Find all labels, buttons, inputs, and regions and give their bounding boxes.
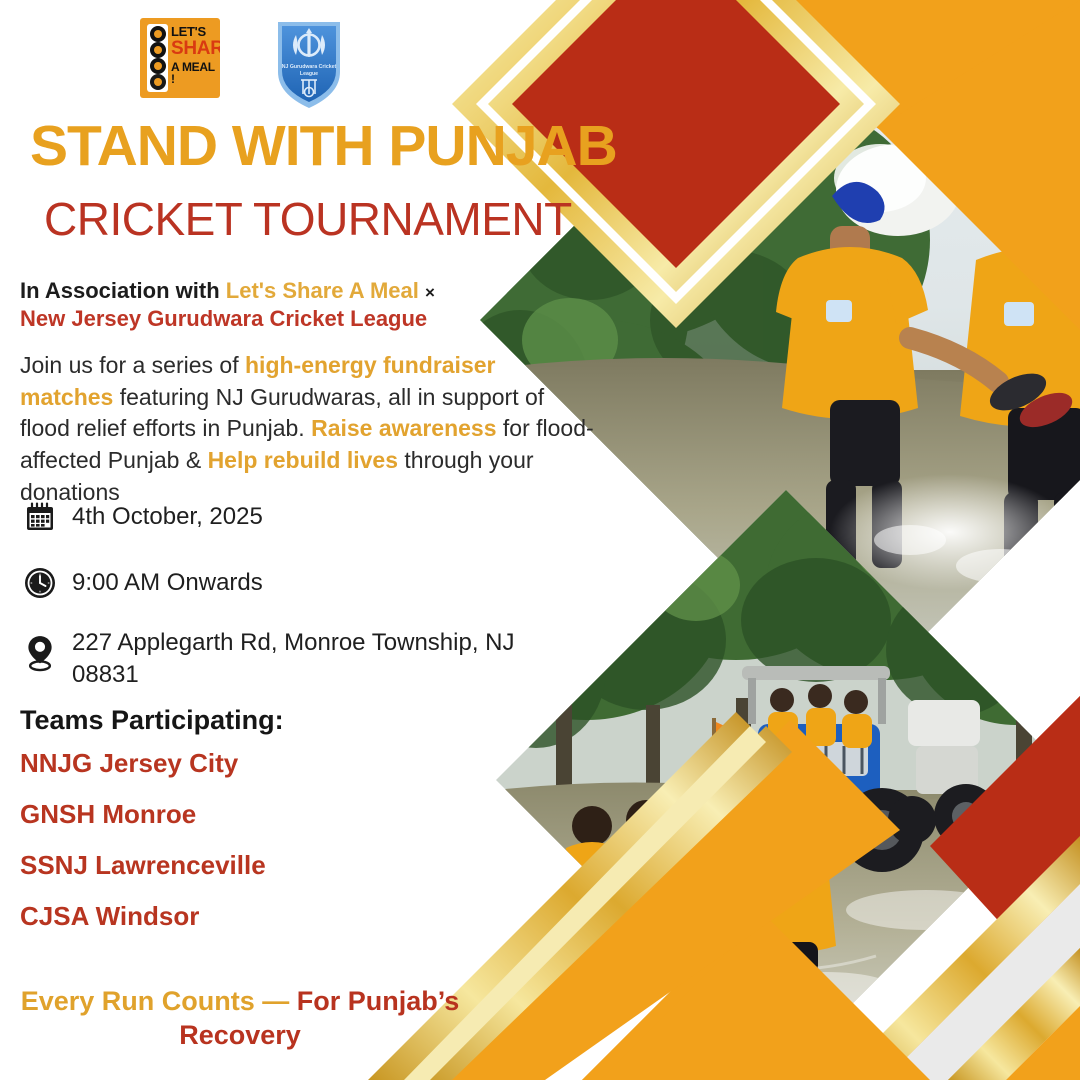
team-item: SSNJ Lawrenceville [20, 852, 266, 878]
logo-line-lets: LET'S [171, 26, 218, 38]
blurb-highlight-2: Raise awareness [311, 415, 496, 441]
event-time: 9:00 AM Onwards [62, 567, 263, 599]
poster-canvas: LET'S SHARE A MEAL ! [0, 0, 1080, 1080]
tagline-gold-part: Every Run Counts — [21, 986, 297, 1016]
event-details: 4th October, 2025 [18, 495, 578, 712]
clock-icon [18, 561, 62, 605]
calendar-icon [18, 495, 62, 539]
blurb-highlight-3: Help rebuild lives [208, 447, 398, 473]
plate-stack-icon [147, 24, 168, 92]
detail-row-time: 9:00 AM Onwards [18, 561, 578, 605]
teams-list: NNJG Jersey City GNSH Monroe SSNJ Lawren… [20, 750, 266, 954]
event-date: 4th October, 2025 [62, 501, 263, 533]
njg-logo-text-line1: NJ Gurudwara Cricket [282, 64, 337, 70]
association-partner-one: Let's Share A Meal [226, 278, 419, 303]
team-item: NNJG Jersey City [20, 750, 266, 776]
lets-share-a-meal-wordmark: LET'S SHARE A MEAL ! [171, 26, 218, 85]
association-separator: × [425, 283, 435, 302]
page-subtitle: CRICKET TOURNAMENT [44, 196, 572, 242]
association-prefix: In Association with [20, 278, 220, 303]
logo-line-ameal: A MEAL ! [171, 62, 218, 85]
page-title: STAND WITH PUNJAB [30, 118, 617, 175]
event-address: 227 Applegarth Rd, Monroe Township, NJ 0… [62, 627, 578, 690]
team-item: GNSH Monroe [20, 801, 266, 827]
tagline: Every Run Counts — For Punjab’s Recovery [10, 985, 470, 1053]
association-text: In Association with Let's Share A Meal ×… [20, 277, 610, 333]
association-partner-two: New Jersey Gurudwara Cricket League [20, 306, 427, 331]
detail-row-date: 4th October, 2025 [18, 495, 578, 539]
njg-logo-text-line2: League [300, 71, 318, 77]
teams-heading: Teams Participating: [20, 705, 284, 736]
logo-line-share: SHARE [171, 40, 218, 58]
blurb-seg-1: Join us for a series of [20, 352, 245, 378]
location-pin-icon [18, 631, 62, 675]
team-item: CJSA Windsor [20, 903, 266, 929]
nj-gurudwara-cricket-league-logo: NJ Gurudwara Cricket League [272, 18, 346, 110]
event-description: Join us for a series of high-energy fund… [20, 350, 595, 509]
detail-row-address: 227 Applegarth Rd, Monroe Township, NJ 0… [18, 627, 578, 690]
content-column: LET'S SHARE A MEAL ! [0, 0, 620, 1080]
logo-row: LET'S SHARE A MEAL ! [140, 18, 346, 110]
lets-share-a-meal-logo: LET'S SHARE A MEAL ! [140, 18, 220, 98]
